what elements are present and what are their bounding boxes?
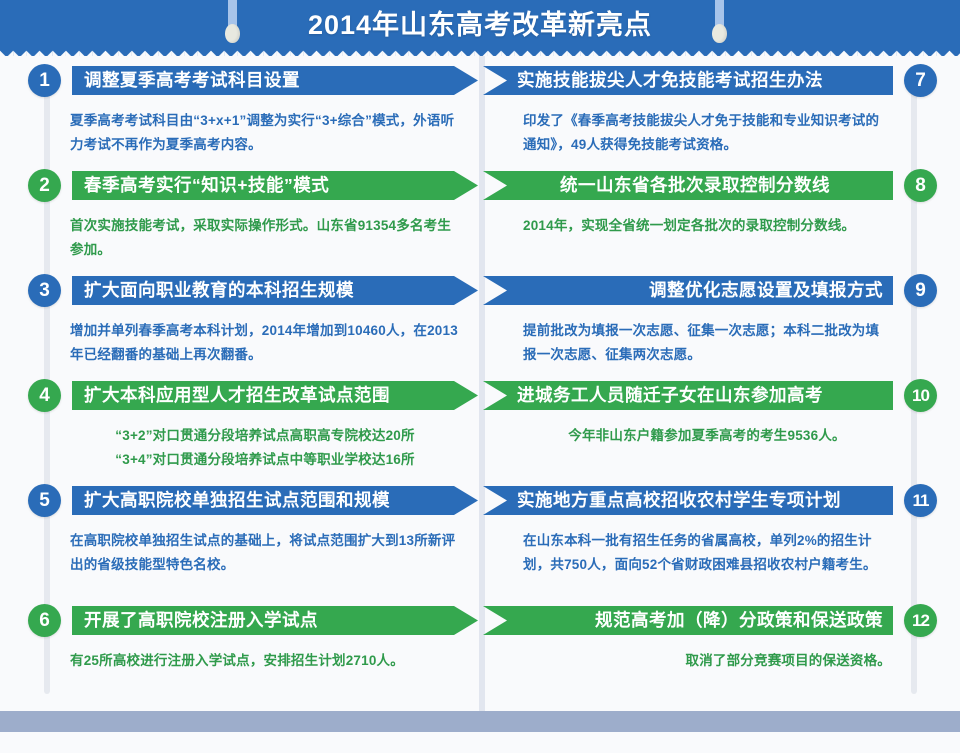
banner-row: 8统一山东省各批次录取控制分数线	[483, 169, 953, 202]
highlight-item-5: 5扩大高职院校单独招生试点范围和规模在高职院校单独招生试点的基础上，将试点范围扩…	[8, 484, 478, 577]
banner-row: 7实施技能拔尖人才免技能考试招生办法	[483, 64, 953, 97]
item-title-banner-4: 扩大本科应用型人才招生改革试点范围	[72, 381, 478, 410]
item-title-banner-7: 实施技能拔尖人才免技能考试招生办法	[483, 66, 893, 95]
item-title-banner-11: 实施地方重点高校招收农村学生专项计划	[483, 486, 893, 515]
highlight-item-9: 9调整优化志愿设置及填报方式提前批改为填报一次志愿、征集一次志愿；本科二批改为填…	[483, 274, 953, 367]
pushpin-head	[225, 24, 240, 43]
highlight-item-10: 10进城务工人员随迁子女在山东参加高考今年非山东户籍参加夏季高考的考生9536人…	[483, 379, 953, 448]
banner-row: 9调整优化志愿设置及填报方式	[483, 274, 953, 307]
page-title: 2014年山东高考改革新亮点	[0, 7, 960, 43]
item-title-banner-8: 统一山东省各批次录取控制分数线	[483, 171, 893, 200]
item-body-text-8: 2014年，实现全省统一划定各批次的录取控制分数线。	[483, 214, 953, 238]
item-title-banner-9: 调整优化志愿设置及填报方式	[483, 276, 893, 305]
item-title-banner-12: 规范高考加（降）分政策和保送政策	[483, 606, 893, 635]
highlight-item-6: 6开展了高职院校注册入学试点有25所高校进行注册入学试点，安排招生计划2710人…	[8, 604, 478, 673]
item-title-banner-5: 扩大高职院校单独招生试点范围和规模	[72, 486, 478, 515]
item-title-banner-2: 春季高考实行“知识+技能”模式	[72, 171, 478, 200]
item-number-badge-7: 7	[904, 64, 937, 97]
item-number-badge-8: 8	[904, 169, 937, 202]
highlight-item-8: 8统一山东省各批次录取控制分数线2014年，实现全省统一划定各批次的录取控制分数…	[483, 169, 953, 238]
item-number-badge-11: 11	[904, 484, 937, 517]
item-body-text-1: 夏季高考考试科目由“3+x+1”调整为实行“3+综合”模式，外语听力考试不再作为…	[8, 109, 478, 157]
banner-row: 3扩大面向职业教育的本科招生规模	[8, 274, 478, 307]
banner-row: 12规范高考加（降）分政策和保送政策	[483, 604, 953, 637]
banner-row: 11实施地方重点高校招收农村学生专项计划	[483, 484, 953, 517]
pushpin-left-icon	[225, 0, 240, 44]
banner-row: 6开展了高职院校注册入学试点	[8, 604, 478, 637]
item-title-banner-3: 扩大面向职业教育的本科招生规模	[72, 276, 478, 305]
item-body-text-11: 在山东本科一批有招生任务的省属高校，单列2%的招生计划，共750人，面向52个省…	[483, 529, 953, 577]
item-title-banner-1: 调整夏季高考考试科目设置	[72, 66, 478, 95]
highlight-item-7: 7实施技能拔尖人才免技能考试招生办法印发了《春季高考技能拔尖人才免于技能和专业知…	[483, 64, 953, 157]
item-number-badge-5: 5	[28, 484, 61, 517]
footer-bar	[0, 711, 960, 732]
item-body-text-5: 在高职院校单独招生试点的基础上，将试点范围扩大到13所新评出的省级技能型特色名校…	[8, 529, 478, 577]
item-body-text-2: 首次实施技能考试，采取实际操作形式。山东省91354多名考生参加。	[8, 214, 478, 262]
banner-row: 2春季高考实行“知识+技能”模式	[8, 169, 478, 202]
banner-row: 10进城务工人员随迁子女在山东参加高考	[483, 379, 953, 412]
banner-row: 4扩大本科应用型人才招生改革试点范围	[8, 379, 478, 412]
item-body-text-4: “3+2”对口贯通分段培养试点高职高专院校达20所“3+4”对口贯通分段培养试点…	[8, 424, 478, 472]
item-number-badge-12: 12	[904, 604, 937, 637]
banner-row: 5扩大高职院校单独招生试点范围和规模	[8, 484, 478, 517]
item-number-badge-1: 1	[28, 64, 61, 97]
item-number-badge-6: 6	[28, 604, 61, 637]
item-title-banner-6: 开展了高职院校注册入学试点	[72, 606, 478, 635]
highlight-item-2: 2春季高考实行“知识+技能”模式首次实施技能考试，采取实际操作形式。山东省913…	[8, 169, 478, 262]
item-body-text-6: 有25所高校进行注册入学试点，安排招生计划2710人。	[8, 649, 478, 673]
item-body-text-10: 今年非山东户籍参加夏季高考的考生9536人。	[483, 424, 953, 448]
item-body-text-7: 印发了《春季高考技能拔尖人才免于技能和专业知识考试的通知》，49人获得免技能考试…	[483, 109, 953, 157]
item-number-badge-3: 3	[28, 274, 61, 307]
highlight-item-3: 3扩大面向职业教育的本科招生规模增加并单列春季高考本科计划，2014年增加到10…	[8, 274, 478, 367]
item-number-badge-9: 9	[904, 274, 937, 307]
item-number-badge-10: 10	[904, 379, 937, 412]
banner-row: 1调整夏季高考考试科目设置	[8, 64, 478, 97]
item-title-banner-10: 进城务工人员随迁子女在山东参加高考	[483, 381, 893, 410]
pushpin-head	[712, 24, 727, 43]
pushpin-right-icon	[712, 0, 727, 44]
highlight-item-4: 4扩大本科应用型人才招生改革试点范围“3+2”对口贯通分段培养试点高职高专院校达…	[8, 379, 478, 472]
item-body-text-9: 提前批改为填报一次志愿、征集一次志愿；本科二批改为填报一次志愿、征集两次志愿。	[483, 319, 953, 367]
item-number-badge-4: 4	[28, 379, 61, 412]
item-number-badge-2: 2	[28, 169, 61, 202]
item-body-text-3: 增加并单列春季高考本科计划，2014年增加到10460人，在2013年已经翻番的…	[8, 319, 478, 367]
highlight-item-1: 1调整夏季高考考试科目设置夏季高考考试科目由“3+x+1”调整为实行“3+综合”…	[8, 64, 478, 157]
page-header: 2014年山东高考改革新亮点	[0, 0, 960, 56]
content-board: 1调整夏季高考考试科目设置夏季高考考试科目由“3+x+1”调整为实行“3+综合”…	[0, 56, 960, 732]
highlight-item-12: 12规范高考加（降）分政策和保送政策取消了部分竞赛项目的保送资格。	[483, 604, 953, 673]
highlight-item-11: 11实施地方重点高校招收农村学生专项计划在山东本科一批有招生任务的省属高校，单列…	[483, 484, 953, 577]
item-body-text-12: 取消了部分竞赛项目的保送资格。	[483, 649, 953, 673]
